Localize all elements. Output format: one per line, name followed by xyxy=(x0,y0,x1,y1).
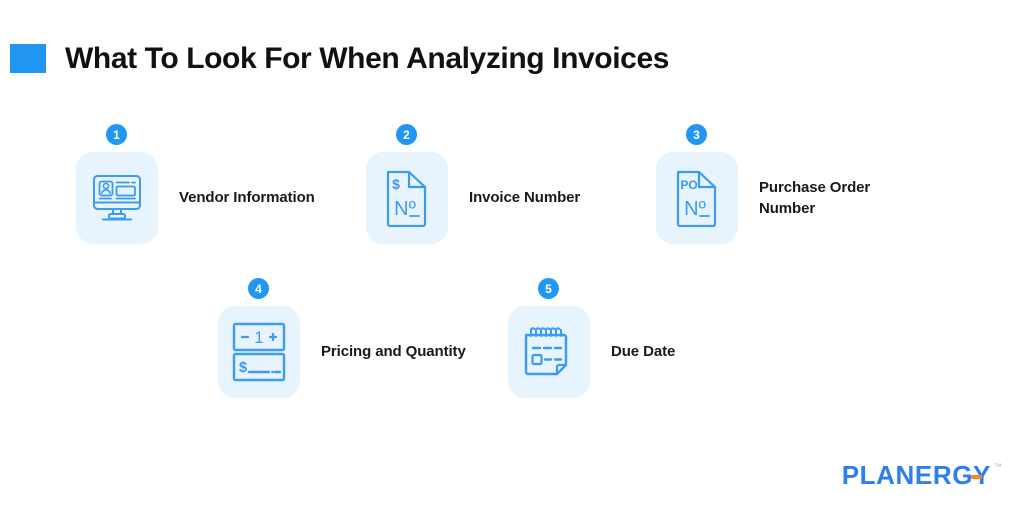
svg-text:$: $ xyxy=(239,359,248,376)
list-item-label: Due Date xyxy=(611,341,675,362)
list-item-pricing-and-quantity: 4 1 $ Pricing and Quantity xyxy=(218,306,466,398)
list-item-label: Pricing and Quantity xyxy=(321,341,466,362)
icon-card-purchase-order-number: 3 PO Nº xyxy=(656,152,738,244)
icon-card-vendor-information: 1 xyxy=(76,152,158,244)
list-item-label: Purchase Order Number xyxy=(759,177,870,220)
svg-text:$: $ xyxy=(392,176,400,192)
quantity-stepper-price-icon: 1 $ xyxy=(231,321,287,383)
step-badge-5: 5 xyxy=(538,278,559,299)
list-item-purchase-order-number: 3 PO Nº Purchase Order Number xyxy=(656,152,870,244)
logo-g-accent-bar xyxy=(971,475,982,479)
accent-square-icon xyxy=(10,44,46,73)
document-dollar-number-icon: $ Nº xyxy=(384,169,430,227)
icon-card-pricing-and-quantity: 4 1 $ xyxy=(218,306,300,398)
trademark-symbol: ™ xyxy=(994,463,1002,471)
infographic-canvas: What To Look For When Analyzing Invoices… xyxy=(0,0,1024,530)
step-badge-3: 3 xyxy=(686,124,707,145)
list-item-vendor-information: 1 Ven xyxy=(76,152,315,244)
header: What To Look For When Analyzing Invoices xyxy=(0,42,669,75)
svg-text:1: 1 xyxy=(254,328,263,347)
monitor-user-profile-icon xyxy=(91,173,143,223)
icon-card-due-date: 5 xyxy=(508,306,590,398)
page-title: What To Look For When Analyzing Invoices xyxy=(65,42,669,75)
planergy-wordmark: PLANERGY xyxy=(842,462,991,488)
list-item-invoice-number: 2 $ Nº Invoice Number xyxy=(366,152,580,244)
list-item-due-date: 5 xyxy=(508,306,675,398)
calendar-icon xyxy=(522,324,576,380)
step-badge-1: 1 xyxy=(106,124,127,145)
document-po-number-icon: PO Nº xyxy=(674,169,720,227)
step-badge-2: 2 xyxy=(396,124,417,145)
icon-card-invoice-number: 2 $ Nº xyxy=(366,152,448,244)
list-item-label: Vendor Information xyxy=(179,187,315,208)
svg-text:PO: PO xyxy=(680,178,697,192)
list-item-label: Invoice Number xyxy=(469,187,580,208)
step-badge-4: 4 xyxy=(248,278,269,299)
planergy-logo: PLANERGY ™ xyxy=(842,462,1002,488)
